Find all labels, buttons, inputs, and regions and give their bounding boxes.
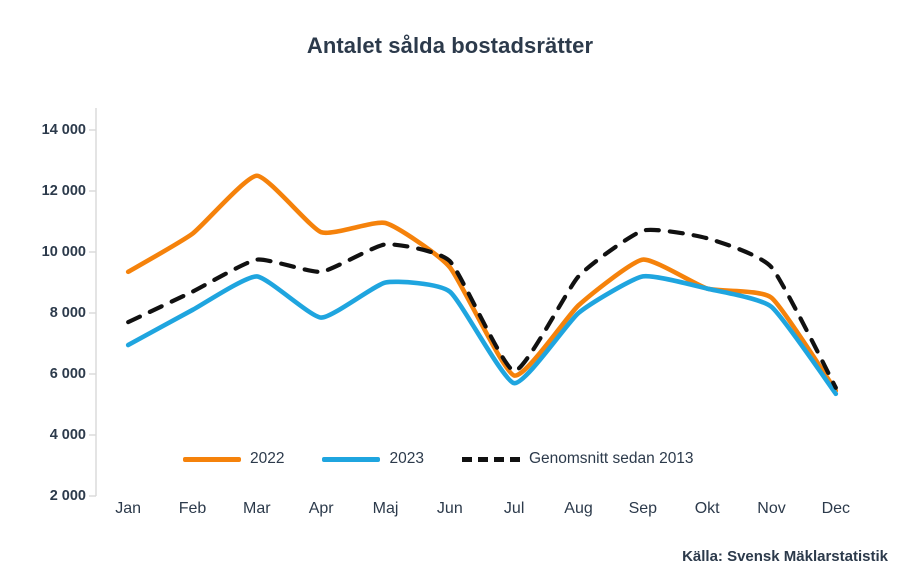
chart-legend: 20222023Genomsnitt sedan 2013 — [183, 450, 694, 468]
x-axis-tick-label: Jun — [437, 500, 463, 518]
x-axis-tick-label: Aug — [564, 500, 592, 518]
legend-item[interactable]: 2022 — [183, 450, 284, 468]
x-axis-tick-label: Okt — [695, 500, 720, 518]
legend-swatch-2022-icon — [183, 457, 241, 462]
x-axis-tick-label: Sep — [629, 500, 657, 518]
x-axis-tick-label: Jan — [115, 500, 141, 518]
x-axis-tick-label: Feb — [179, 500, 207, 518]
legend-label: 2023 — [389, 450, 423, 468]
chart-container: Antalet sålda bostadsrätter 14 00012 000… — [0, 0, 900, 587]
legend-swatch-2023-icon — [322, 457, 380, 462]
series-line-genomsnitt-sedan-2013 — [128, 230, 836, 388]
source-note: Källa: Svensk Mäklarstatistik — [682, 548, 888, 565]
legend-label: 2022 — [250, 450, 284, 468]
x-axis-tick-label: Nov — [757, 500, 785, 518]
x-axis-tick-label: Maj — [373, 500, 399, 518]
x-axis-tick-label: Dec — [822, 500, 850, 518]
x-axis-tick-label: Mar — [243, 500, 271, 518]
plot-area — [0, 0, 900, 587]
legend-item[interactable]: 2023 — [322, 450, 423, 468]
legend-label: Genomsnitt sedan 2013 — [529, 450, 694, 468]
series-line-2023 — [128, 276, 836, 394]
plot-svg — [0, 0, 900, 587]
x-axis-tick-label: Apr — [309, 500, 334, 518]
legend-item[interactable]: Genomsnitt sedan 2013 — [462, 450, 694, 468]
legend-swatch-genomsnitt-sedan-2013-icon — [462, 457, 520, 462]
x-axis-tick-label: Jul — [504, 500, 524, 518]
